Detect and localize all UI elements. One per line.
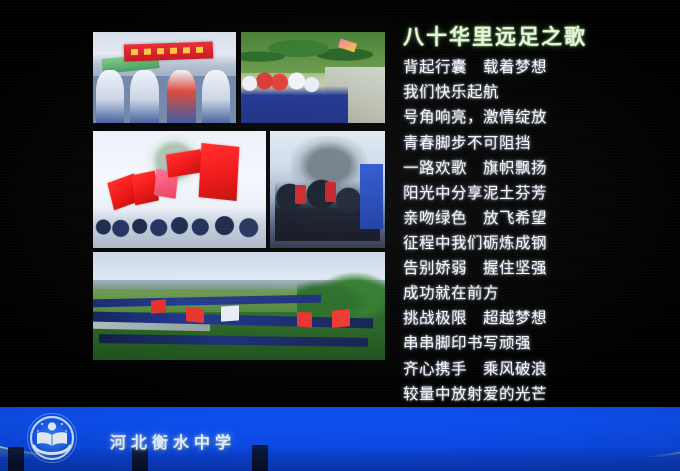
photo-content xyxy=(93,131,266,248)
person xyxy=(167,70,196,123)
person xyxy=(130,70,159,123)
red-flag xyxy=(151,299,166,313)
lyric-line: 齐心携手 乘风破浪 xyxy=(403,357,671,382)
red-flag xyxy=(332,310,350,329)
marching-students xyxy=(241,63,348,123)
photo-students-red-banner xyxy=(93,32,236,123)
lyric-line: 阳光中分享泥土芬芳 xyxy=(403,181,671,206)
song-lyrics-block: 八十华里远足之歌 背起行囊 载着梦想 我们快乐起航 号角响亮，激情绽放 青春脚步… xyxy=(403,24,671,457)
red-flag xyxy=(186,307,204,323)
lyric-line: 串串脚印书写顽强 xyxy=(403,331,671,356)
lyric-line: 一路欢歌 旗帜飘扬 xyxy=(403,156,671,181)
lyric-line: 青春脚步不可阻挡 xyxy=(403,131,671,156)
photo-content xyxy=(93,32,236,123)
lyric-line: 较量中放射爱的光芒 xyxy=(403,382,671,407)
photo-content xyxy=(270,131,385,248)
red-garment xyxy=(325,182,335,202)
song-title: 八十华里远足之歌 xyxy=(403,24,671,50)
lyric-line: 挑战极限 超越梦想 xyxy=(403,306,671,331)
white-flag xyxy=(221,305,239,321)
lyric-line: 成功就在前方 xyxy=(403,281,671,306)
red-flag xyxy=(199,143,240,201)
blue-figure xyxy=(360,164,383,230)
person xyxy=(202,70,231,123)
school-banner xyxy=(0,407,680,471)
banner-base xyxy=(0,447,680,471)
photo-group-dark xyxy=(270,131,385,248)
red-flag xyxy=(297,312,312,328)
photo-panorama-march xyxy=(93,252,385,360)
students xyxy=(93,206,266,241)
photo-red-flags xyxy=(93,131,266,248)
foreground-post xyxy=(8,447,24,471)
lyric-line: 征程中我们砺炼成钢 xyxy=(403,231,671,256)
red-banner xyxy=(124,41,213,61)
photo-walking-tree-path xyxy=(241,32,385,123)
photo-content xyxy=(241,32,385,123)
presentation-slide: 八十华里远足之歌 背起行囊 载着梦想 我们快乐起航 号角响亮，激情绽放 青春脚步… xyxy=(0,0,680,471)
red-garment xyxy=(295,185,305,204)
lyric-line: 背起行囊 载着梦想 xyxy=(403,55,671,80)
lyric-line: 号角响亮，激情绽放 xyxy=(403,105,671,130)
lyric-line: 我们快乐起航 xyxy=(403,80,671,105)
open-book-emblem-icon xyxy=(24,411,80,465)
foreground-post xyxy=(252,445,268,471)
person xyxy=(96,70,125,123)
photo-content xyxy=(93,252,385,360)
lyric-line: 告别娇弱 握住坚强 xyxy=(403,256,671,281)
school-name: 河北衡水中学 xyxy=(110,429,236,453)
lyric-line: 亲吻绿色 放飞希望 xyxy=(403,206,671,231)
